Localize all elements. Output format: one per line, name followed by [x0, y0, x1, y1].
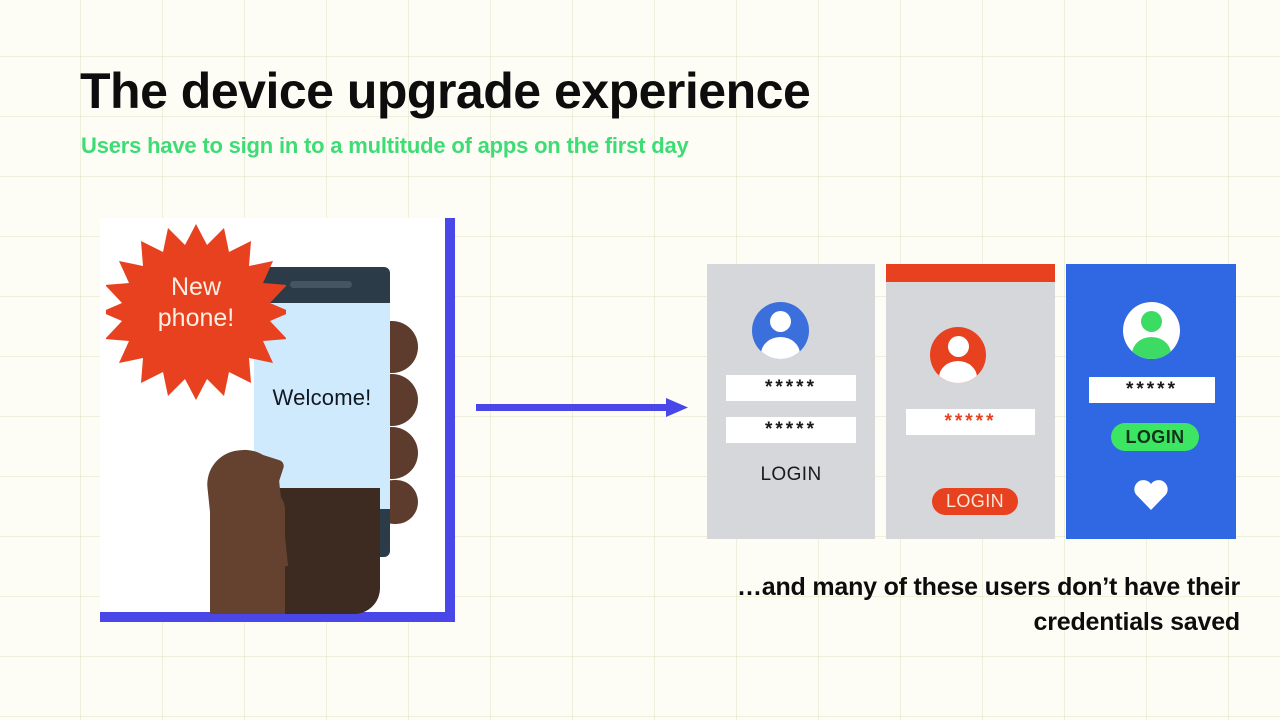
- user-avatar-icon: [752, 302, 809, 359]
- badge-text: New phone!: [106, 272, 286, 333]
- caption-text: …and many of these users don’t have thei…: [640, 570, 1240, 639]
- avatar-head: [948, 336, 969, 357]
- user-avatar-icon: [930, 327, 986, 383]
- badge-line-1: New: [106, 272, 286, 303]
- login-button[interactable]: LOGIN: [707, 464, 875, 486]
- phone-illustration: Welcome! New phone!: [100, 218, 456, 623]
- page-title: The device upgrade experience: [80, 64, 810, 118]
- login-button[interactable]: LOGIN: [1111, 423, 1199, 451]
- login-card-3[interactable]: ***** LOGIN: [1066, 264, 1236, 539]
- login-card-2[interactable]: ***** LOGIN: [886, 264, 1055, 539]
- avatar-head: [1141, 311, 1162, 332]
- arrow-right-icon: [476, 396, 688, 420]
- heart-glyph: [1133, 477, 1169, 511]
- avatar-body: [1132, 337, 1171, 359]
- password-field[interactable]: *****: [906, 409, 1035, 435]
- avatar-head: [770, 311, 791, 332]
- login-button[interactable]: LOGIN: [932, 488, 1018, 515]
- login-card-1[interactable]: ***** ***** LOGIN: [707, 264, 875, 539]
- slide-canvas: The device upgrade experience Users have…: [0, 0, 1280, 720]
- frame-vertical-line: [445, 218, 455, 622]
- caption-line-1: …and many of these users don’t have thei…: [640, 570, 1240, 605]
- user-avatar-icon: [1123, 302, 1180, 359]
- heart-icon[interactable]: [1133, 477, 1169, 511]
- password-field[interactable]: *****: [726, 417, 856, 443]
- flow-arrow: [476, 396, 688, 420]
- page-subtitle: Users have to sign in to a multitude of …: [81, 133, 689, 159]
- avatar-body: [761, 337, 800, 359]
- avatar-body: [939, 361, 977, 383]
- password-field[interactable]: *****: [1089, 377, 1215, 403]
- username-field[interactable]: *****: [726, 375, 856, 401]
- new-phone-starburst-badge: New phone!: [106, 224, 286, 404]
- phone-speaker-top: [290, 281, 352, 288]
- badge-line-2: phone!: [106, 303, 286, 334]
- card-top-bar: [886, 264, 1055, 282]
- caption-line-2: credentials saved: [640, 605, 1240, 640]
